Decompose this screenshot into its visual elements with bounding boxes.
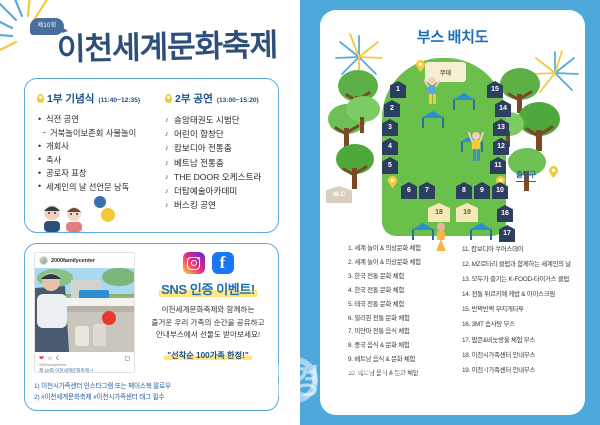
sns-desc-line: 이천세계문화축제와 함께하는 [143,304,273,317]
location-marker-icon [416,60,425,72]
sns-content: f SNS 인증 이벤트! 이천세계문화축제와 함께하는 즐거운 우리 가족의 … [143,252,273,361]
visitor-illustration [468,130,484,162]
instagram-caption: 2000familycenter 제 10회 이천세계문화축제~! [35,363,134,374]
program-part1: 1부 기념식 (11:40~12:35) 식전 공연 거북놀이보존회 사물놀이 … [37,91,165,194]
part2-heading: 2부 공연 (13:00~15:20) [165,91,277,106]
list-item: 캄보디아 전통춤 [165,141,277,155]
tree-icon [334,142,376,190]
avatar [39,256,48,265]
booth-map-area: 무대 출입구 [320,50,585,240]
social-icon-row: f [143,252,273,274]
sns-event-title: SNS 인증 이벤트! [159,279,257,298]
legend-item: 12. MZ로타리 클럽과 함께하는 세계인의 날 [462,257,584,272]
instagram-actions: ❤ ○ ☇ ▢ [35,352,134,363]
program-part2: 2부 공연 (13:00~15:20) 송암태권도 시범단 어린이 합창단 캄보… [165,91,277,212]
legend-item: 2. 세계 놀이 & 의상문화 체험 [348,256,460,270]
tent-icon [451,92,477,110]
entrance-marker-icon [549,166,558,178]
visitor-illustration [424,75,440,105]
instagram-lens [191,260,197,266]
legend-item: 17. 팝콘&비눗방울 체험 부스 [462,333,584,348]
booth-map-card: 부스 배치도 [320,10,585,415]
sns-desc-line: 안내부스에서 선물도 받아보세요! [143,329,273,342]
legend-item: 5. 태국 전통 문화 체험 [348,298,460,312]
caption-meta: 2000familycenter [39,363,130,367]
photo-content [35,268,134,352]
legend-item: 13. 모두가 즐기는 K-FOOD-타이거스 클럽 [462,272,584,287]
legend-item: 7. 미얀마 전통 음식 체험 [348,325,460,339]
legend-item: 14. 전통 튀르키예 케밥 & 아이스크림 [462,287,584,302]
sns-event-card: 2000familycenter [24,243,279,411]
comment-icon[interactable]: ○ [48,356,52,362]
footer-step: 1) 이천시가족센터 인스타그램 또는 페이스북 팔로우 [34,381,272,392]
list-item: 축사 [37,154,165,168]
booth-legend: 1. 세계 놀이 & 의상문화 체험 2. 세계 놀이 & 의상문화 체험 3.… [320,242,585,410]
list-item: 거북놀이보존회 사물놀이 [37,127,165,141]
heart-icon[interactable]: ❤ [39,355,44,362]
legend-item: 3. 한국 전통 문화 체험 [348,270,460,284]
list-item: 더탑예술아카데미 [165,184,277,198]
part1-heading: 1부 기념식 (11:40~12:35) [37,91,165,106]
legend-item: 6. 필리핀 전통 문화 체험 [348,312,460,326]
caption-tag: 제 10회 이천세계문화축제~! [39,368,130,374]
legend-item: 8. 중국 음식 & 문화 체험 [348,339,460,353]
location-marker-icon [388,176,397,188]
legend-item: 4. 한국 전통 문화 체험 [348,284,460,298]
list-item: 세계인의 날 선언문 낭독 [37,181,165,195]
list-item: 베트남 전통춤 [165,156,277,170]
legend-item: 11. 캄보디아 쑤어스데이 [462,242,584,257]
list-item: 버스킹 공연 [165,198,277,212]
family-illustration [38,196,122,232]
list-item: 공로자 표창 [37,167,165,181]
poster-title-group: 제10회 이천세계문화축제 [30,16,295,70]
right-panel: 부스 배치도 [300,0,600,425]
tree-icon [344,94,382,134]
legend-item: 15. 반짝반짝 무지개타투 [462,302,584,317]
sns-footer-instructions: 1) 이천시가족센터 인스타그램 또는 페이스북 팔로우 2) #이천세계문화축… [34,381,272,403]
legend-item: 19. 이천시가족센터 안내부스 [462,363,584,378]
part2-time: (13:00~15:20) [217,97,259,104]
entrance-label: 출입구 [516,169,536,182]
legend-item: 10. 베트남 음식 & 문화 체험 [348,367,460,381]
tent-icon [420,110,446,128]
part2-list: 송암태권도 시범단 어린이 합창단 캄보디아 전통춤 베트남 전통춤 THE D… [165,113,277,212]
instagram-post-preview: 2000familycenter [34,252,135,373]
left-panel: 제10회 이천세계문화축제 1부 기념식 (11:40~12:35) 식전 공연… [0,0,300,425]
pin-icon [37,94,44,103]
legend-item: 18. 이천시가족센터 안내부스 [462,348,584,363]
page-title: 이천세계문화축제 [57,19,278,69]
pin-icon [165,94,172,103]
festival-photo [35,268,134,352]
list-item: 개회사 [37,140,165,154]
legend-item: 16. 3MT 솜사탕 부스 [462,317,584,332]
poster-page: 제10회 이천세계문화축제 1부 기념식 (11:40~12:35) 식전 공연… [0,0,600,425]
part1-time: (11:40~12:35) [98,97,140,104]
part2-title: 2부 공연 [175,91,213,106]
legend-column-right: 11. 캄보디아 쑤어스데이 12. MZ로타리 클럽과 함께하는 세계인의 날… [462,242,584,378]
sns-title-wrap: SNS 인증 이벤트! [143,279,273,299]
legend-column-left: 1. 세계 놀이 & 의상문화 체험 2. 세계 놀이 & 의상문화 체험 3.… [348,242,460,381]
instagram-username: 2000familycenter [51,258,95,264]
instagram-dot [198,257,200,259]
list-item: 식전 공연 [37,113,165,127]
instagram-icon[interactable] [183,252,205,274]
list-item: 송암태권도 시범단 [165,113,277,127]
list-item: THE DOOR 오케스트라 [165,170,277,184]
facebook-icon[interactable]: f [212,252,234,274]
bookmark-icon[interactable]: ▢ [124,355,130,362]
instagram-post-header: 2000familycenter [35,253,134,268]
facebook-f-glyph: f [212,252,234,274]
share-icon[interactable]: ☇ [56,355,59,362]
part1-list: 식전 공연 거북놀이보존회 사물놀이 개회사 축사 공로자 표창 세계인의 날 … [37,113,165,194]
footer-step: 2) #이천세계문화축제 #이천시가족센터 태그 필수 [34,392,272,403]
tent-icon [468,222,494,240]
sns-desc-line: 즐거운 우리 가족의 순간을 공유하고 [143,317,273,330]
sns-limit-note: "선착순 100가족 한정!" [143,349,273,361]
list-item: 어린이 합창단 [165,127,277,141]
legend-item: 9. 베트남 음식 & 문화 체험 [348,353,460,367]
part1-title: 1부 기념식 [47,91,94,106]
legend-item: 1. 세계 놀이 & 의상문화 체험 [348,242,460,256]
